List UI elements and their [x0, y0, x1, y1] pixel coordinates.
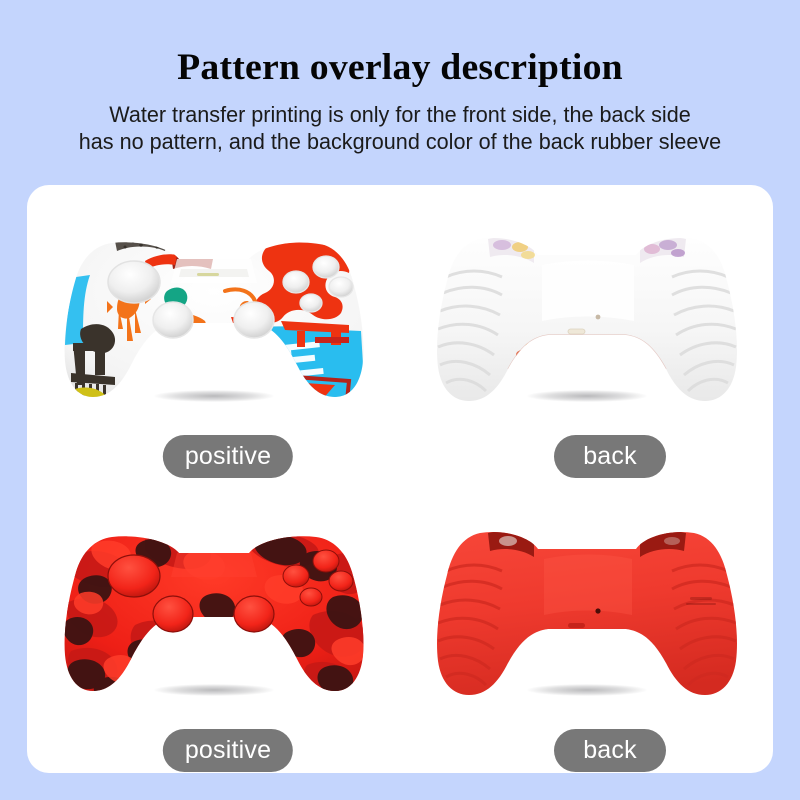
controller-shell: [422, 225, 752, 415]
page-title: Pattern overlay description: [0, 46, 800, 90]
screw-hole: [595, 315, 600, 320]
label-back: back: [554, 729, 666, 772]
label-positive: positive: [163, 729, 293, 772]
product-cell-graffiti-front: positive: [27, 185, 400, 479]
controller-shell: [422, 519, 752, 709]
subtitle: Water transfer printing is only for the …: [54, 101, 745, 155]
label-positive: positive: [163, 435, 293, 478]
product-card: positive: [27, 185, 773, 773]
controller-image-camo-front: [49, 519, 379, 709]
subtitle-line-2: has no pattern, and the background color…: [54, 128, 745, 155]
port-slot: [568, 329, 585, 334]
product-cell-camo-back: back: [400, 479, 773, 773]
controller-shell: [49, 225, 379, 415]
screw-hole: [595, 608, 600, 613]
subtitle-line-1: Water transfer printing is only for the …: [54, 101, 745, 128]
product-info-graphic: Pattern overlay description Water transf…: [0, 0, 800, 800]
product-cell-graffiti-back: back: [400, 185, 773, 479]
controller-shell: [49, 519, 379, 709]
controller-image-white-back: [422, 225, 752, 415]
label-back: back: [554, 435, 666, 478]
port-slot: [568, 623, 585, 628]
product-cell-camo-front: positive: [27, 479, 400, 773]
header: Pattern overlay description Water transf…: [0, 0, 800, 185]
controller-image-graffiti-front: [49, 225, 379, 415]
controller-image-red-back: [422, 519, 752, 709]
